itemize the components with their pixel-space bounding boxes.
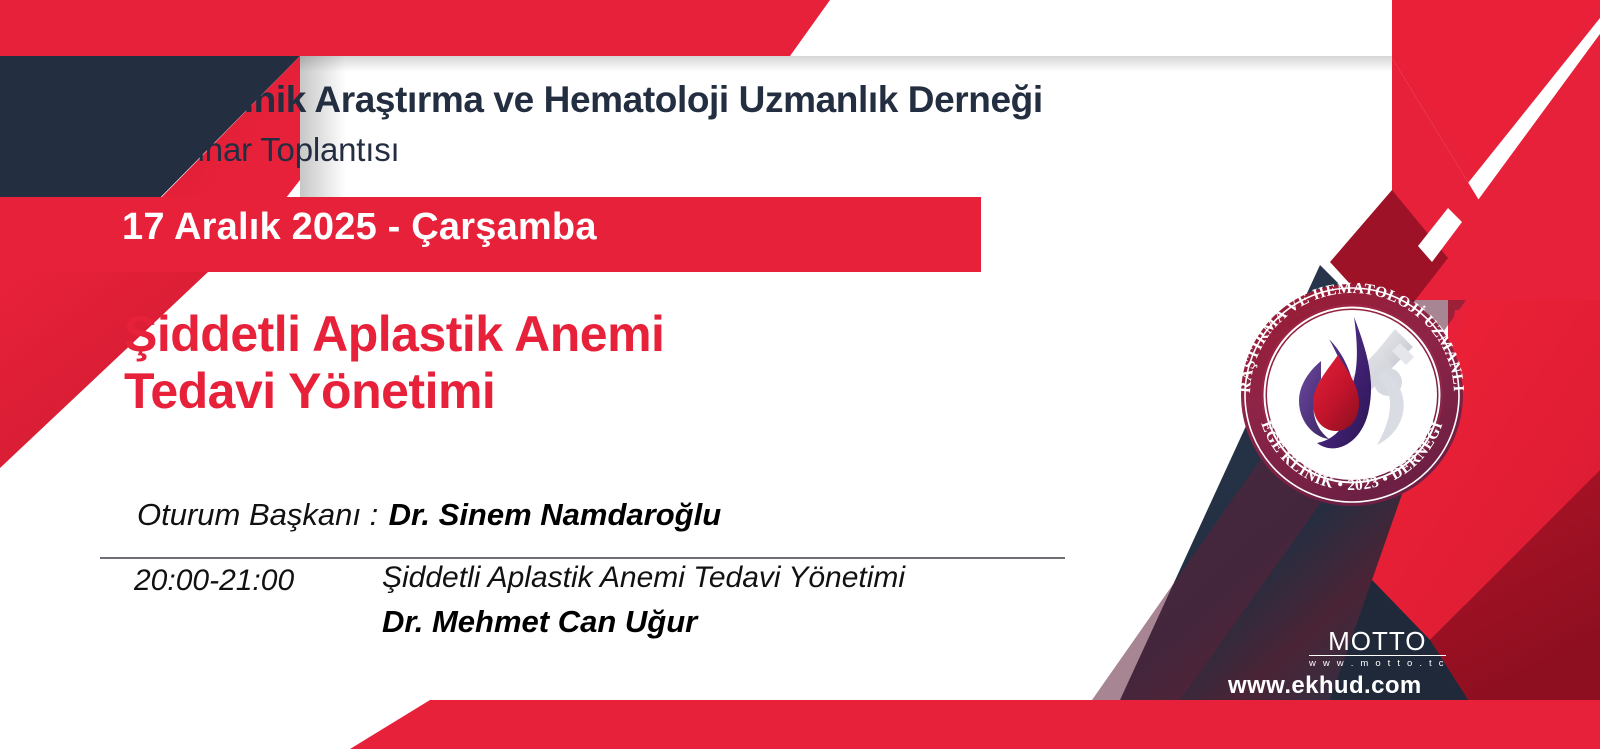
program-topic: Şiddetli Aplastik Anemi Tedavi Yönetimi: [382, 560, 942, 596]
session-chair-label: Oturum Başkanı :: [137, 497, 378, 532]
program-body: Şiddetli Aplastik Anemi Tedavi Yönetimi …: [382, 560, 1034, 640]
session-chair-row: Oturum Başkanı : Dr. Sinem Namdaroğlu: [137, 497, 721, 533]
program-divider: [100, 557, 1065, 559]
website-url[interactable]: www.ekhud.com: [1228, 672, 1422, 700]
program-time: 20:00-21:00: [134, 560, 382, 640]
event-topic-title-line2: Tedavi Yönetimi: [124, 363, 664, 420]
session-chair-name: Dr. Sinem Namdaroğlu: [389, 497, 721, 532]
event-date-badge: 17 Aralık 2025 - Çarşamba: [122, 206, 597, 249]
event-topic-title-line1: Şiddetli Aplastik Anemi: [124, 306, 664, 363]
program-speaker: Dr. Mehmet Can Uğur: [382, 604, 1034, 640]
agency-name: MOTTO: [1309, 628, 1446, 656]
association-title: Ege Klinik Araştırma ve Hematoloji Uzman…: [131, 79, 1043, 121]
event-topic-title: Şiddetli Aplastik Anemi Tedavi Yönetimi: [124, 306, 664, 420]
association-logo-badge: ARAŞTIRMA VE HEMATOLOJİ UZMANLIK EGE KLİ…: [1217, 267, 1487, 510]
agency-logo[interactable]: MOTTO w w w . m o t t o . t c: [1309, 628, 1446, 669]
webinar-banner: Ege Klinik Araştırma ve Hematoloji Uzman…: [0, 0, 1600, 749]
meeting-type-label: Webinar Toplantısı: [131, 131, 400, 169]
program-row: 20:00-21:00 Şiddetli Aplastik Anemi Teda…: [134, 560, 1034, 640]
agency-url: w w w . m o t t o . t c: [1309, 658, 1446, 669]
